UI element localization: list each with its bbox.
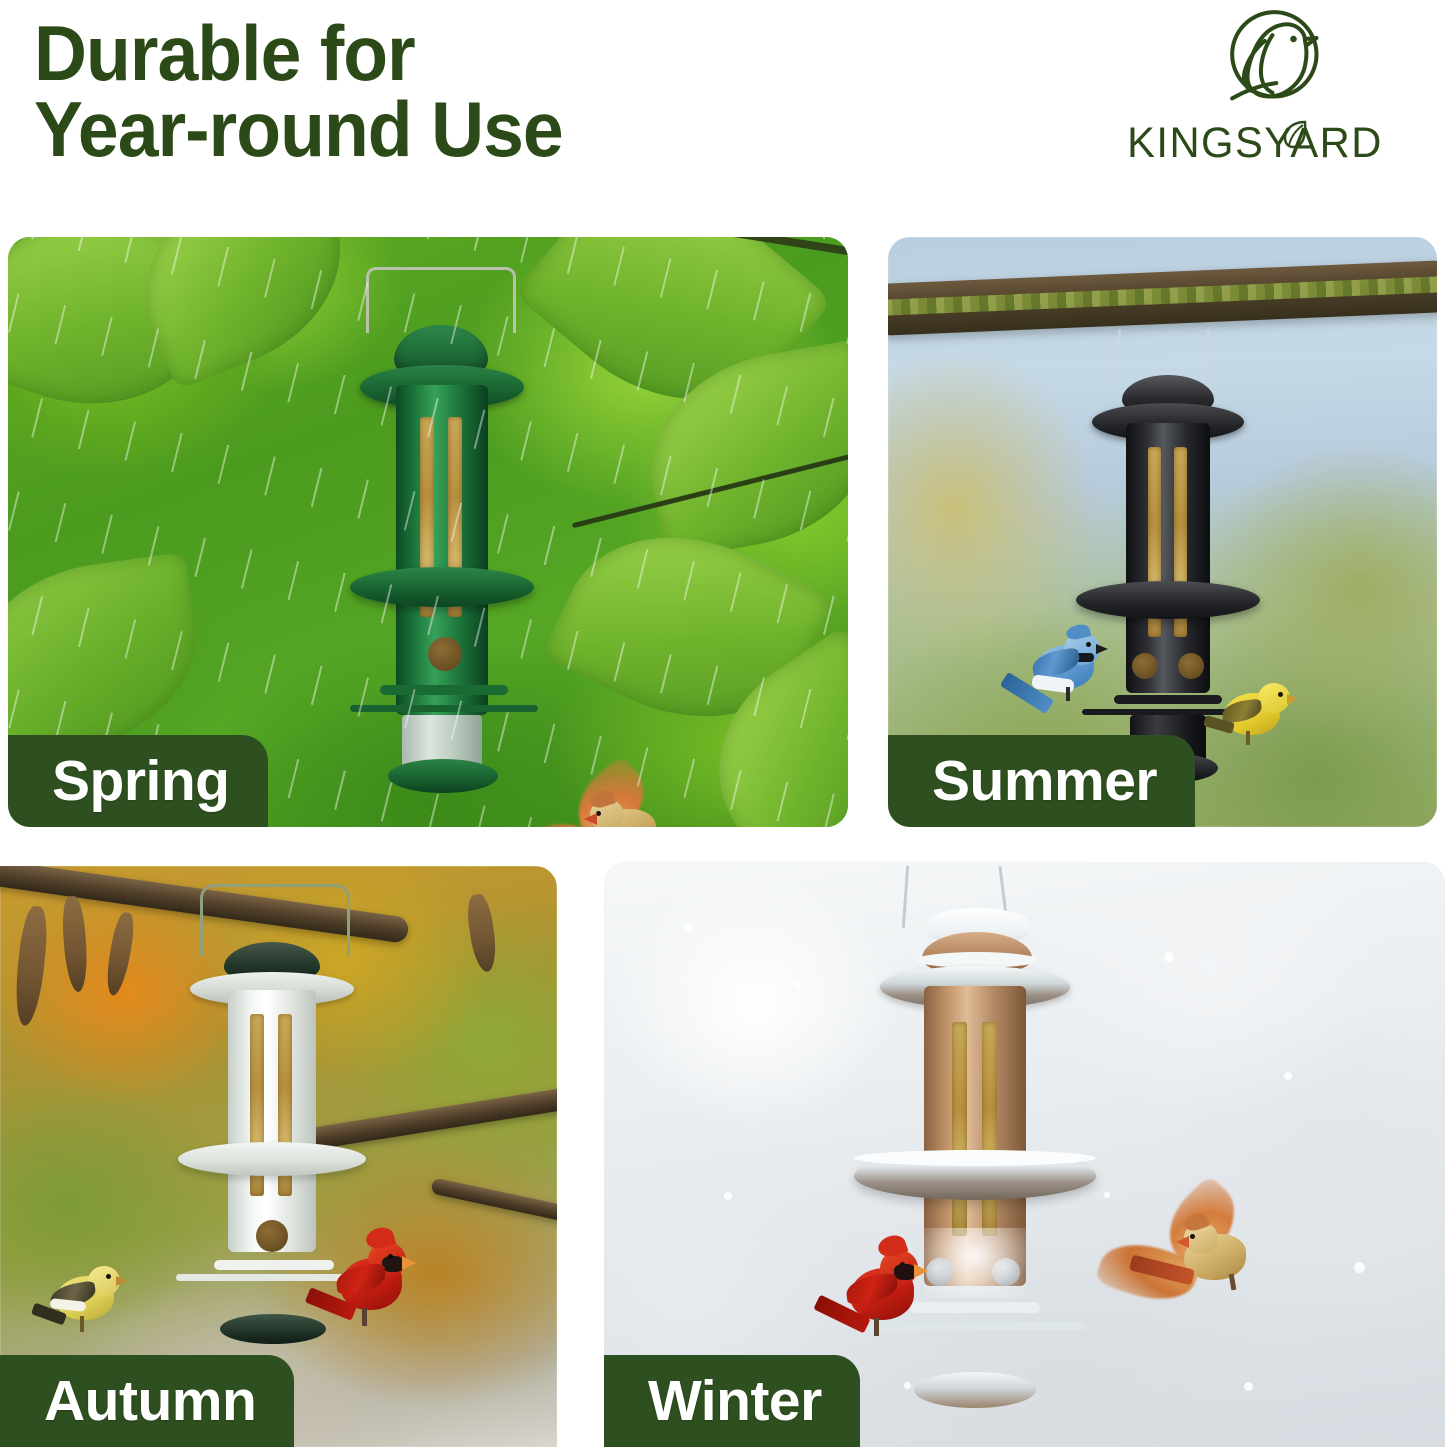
bird-northern-cardinal [318, 1234, 428, 1346]
bird-northern-cardinal [832, 1242, 946, 1360]
snow-on-baffle [854, 1150, 1096, 1166]
brand-logo: KINGSYARD [1095, 6, 1415, 186]
season-label-autumn: Autumn [0, 1355, 294, 1447]
season-photo-spring: Spring [8, 237, 848, 827]
bird-female-cardinal-flying [1104, 1200, 1280, 1336]
season-photo-winter: Winter [604, 862, 1445, 1447]
bird-in-circle-logo-icon [1213, 6, 1328, 118]
season-photo-autumn: Autumn [0, 866, 557, 1447]
bird-american-goldfinch [44, 1260, 140, 1344]
header: Durable for Year-round Use KINGSYARD [0, 0, 1445, 232]
season-photo-summer: Summer [888, 237, 1437, 827]
season-label-winter: Winter [604, 1355, 860, 1447]
leaf-accent-icon [1281, 120, 1307, 150]
bird-blue-jay [1010, 629, 1118, 741]
season-label-spring: Spring [8, 735, 268, 827]
brand-wordmark: KINGSYARD [1100, 119, 1410, 168]
page-title: Durable for Year-round Use [34, 16, 786, 167]
bird-yellow-finch [1220, 679, 1314, 757]
season-label-summer: Summer [888, 735, 1195, 827]
